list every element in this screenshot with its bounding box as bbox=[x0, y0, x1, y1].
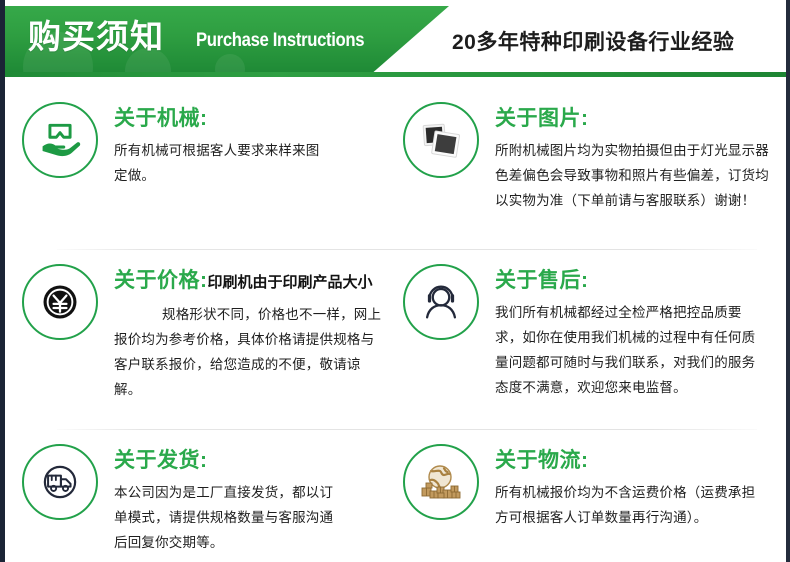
block-title: 关于机械: bbox=[114, 104, 395, 134]
block-about-shipping: 关于发货: 本公司因为是工厂直接发货，都以订单模式，请提供规格数量与客服沟通后回… bbox=[5, 430, 395, 562]
block-text: 关于机械: 所有机械可根据客人要求来样来图定做。 bbox=[98, 88, 395, 189]
left-edge-strip bbox=[0, 0, 5, 562]
header-slogan: 20多年特种印刷设备行业经验 bbox=[452, 26, 734, 56]
globe-boxes-icon bbox=[403, 444, 479, 520]
block-title: 关于售后: bbox=[495, 266, 786, 296]
right-edge-strip bbox=[786, 0, 790, 562]
block-title-text: 关于售后: bbox=[495, 269, 589, 292]
block-text: 关于发货: 本公司因为是工厂直接发货，都以订单模式，请提供规格数量与客服沟通后回… bbox=[98, 430, 395, 556]
instructions-row: 关于发货: 本公司因为是工厂直接发货，都以订单模式，请提供规格数量与客服沟通后回… bbox=[5, 430, 786, 562]
block-title-text: 关于发货: bbox=[114, 449, 208, 472]
block-title-text: 关于价格: bbox=[114, 269, 208, 292]
yen-coin-icon bbox=[22, 264, 98, 340]
block-body: 所附机械图片均为实物拍摄但由于灯光显示器色差偏色会导致事物和照片有些偏差，订货均… bbox=[495, 139, 773, 214]
block-title: 关于价格:印刷机由于印刷产品大小 bbox=[114, 266, 395, 298]
instructions-content: 关于机械: 所有机械可根据客人要求来样来图定做。 bbox=[5, 88, 786, 562]
block-text: 关于物流: 所有机械报价均为不含运费价格（运费承担方可根据客人订单数量再行沟通）… bbox=[479, 430, 786, 531]
block-text: 关于价格:印刷机由于印刷产品大小 规格形状不同，价格也不一样，网上报价均为参考价… bbox=[98, 250, 395, 403]
instructions-row: 关于机械: 所有机械可根据客人要求来样来图定做。 bbox=[5, 88, 786, 250]
block-about-logistics: 关于物流: 所有机械报价均为不含运费价格（运费承担方可根据客人订单数量再行沟通）… bbox=[395, 430, 786, 562]
instructions-row: 关于价格:印刷机由于印刷产品大小 规格形状不同，价格也不一样，网上报价均为参考价… bbox=[5, 250, 786, 430]
block-text: 关于图片: 所附机械图片均为实物拍摄但由于灯光显示器色差偏色会导致事物和照片有些… bbox=[479, 88, 786, 214]
block-about-price: 关于价格:印刷机由于印刷产品大小 规格形状不同，价格也不一样，网上报价均为参考价… bbox=[5, 250, 395, 430]
block-text: 关于售后: 我们所有机械都经过全检严格把控品质要求，如你在使用我们机械的过程中有… bbox=[479, 250, 786, 401]
block-title: 关于发货: bbox=[114, 446, 395, 476]
headset-support-icon bbox=[403, 264, 479, 340]
block-body: 我们所有机械都经过全检严格把控品质要求，如你在使用我们机械的过程中有任何质量问题… bbox=[495, 301, 767, 401]
block-title-inline-extra: 印刷机由于印刷产品大小 bbox=[208, 274, 373, 291]
block-body: 本公司因为是工厂直接发货，都以订单模式，请提供规格数量与客服沟通后回复你交期等。 bbox=[114, 481, 339, 556]
photos-icon bbox=[403, 102, 479, 178]
page-subtitle-english: Purchase Instructions bbox=[196, 30, 364, 52]
block-title-text: 关于机械: bbox=[114, 107, 208, 130]
delivery-truck-icon bbox=[22, 444, 98, 520]
block-body: 所有机械可根据客人要求来样来图定做。 bbox=[114, 139, 324, 189]
block-body: 所有机械报价均为不含运费价格（运费承担方可根据客人订单数量再行沟通）。 bbox=[495, 481, 767, 531]
block-about-photos: 关于图片: 所附机械图片均为实物拍摄但由于灯光显示器色差偏色会导致事物和照片有些… bbox=[395, 88, 786, 250]
block-title: 关于物流: bbox=[495, 446, 786, 476]
page-header: 购买须知 Purchase Instructions 20多年特种印刷设备行业经… bbox=[0, 0, 790, 88]
header-divider-bar bbox=[5, 72, 786, 77]
block-about-machinery: 关于机械: 所有机械可根据客人要求来样来图定做。 bbox=[5, 88, 395, 250]
header-bubble-decor bbox=[215, 54, 245, 84]
block-body: 规格形状不同，价格也不一样，网上报价均为参考价格，具体价格请提供规格与客户联系报… bbox=[114, 303, 386, 403]
page-title: 购买须知 bbox=[28, 16, 164, 58]
block-about-after-sales: 关于售后: 我们所有机械都经过全检严格把控品质要求，如你在使用我们机械的过程中有… bbox=[395, 250, 786, 430]
hand-holding-box-icon bbox=[22, 102, 98, 178]
block-title: 关于图片: bbox=[495, 104, 786, 134]
block-title-text: 关于图片: bbox=[495, 107, 589, 130]
block-title-text: 关于物流: bbox=[495, 449, 589, 472]
